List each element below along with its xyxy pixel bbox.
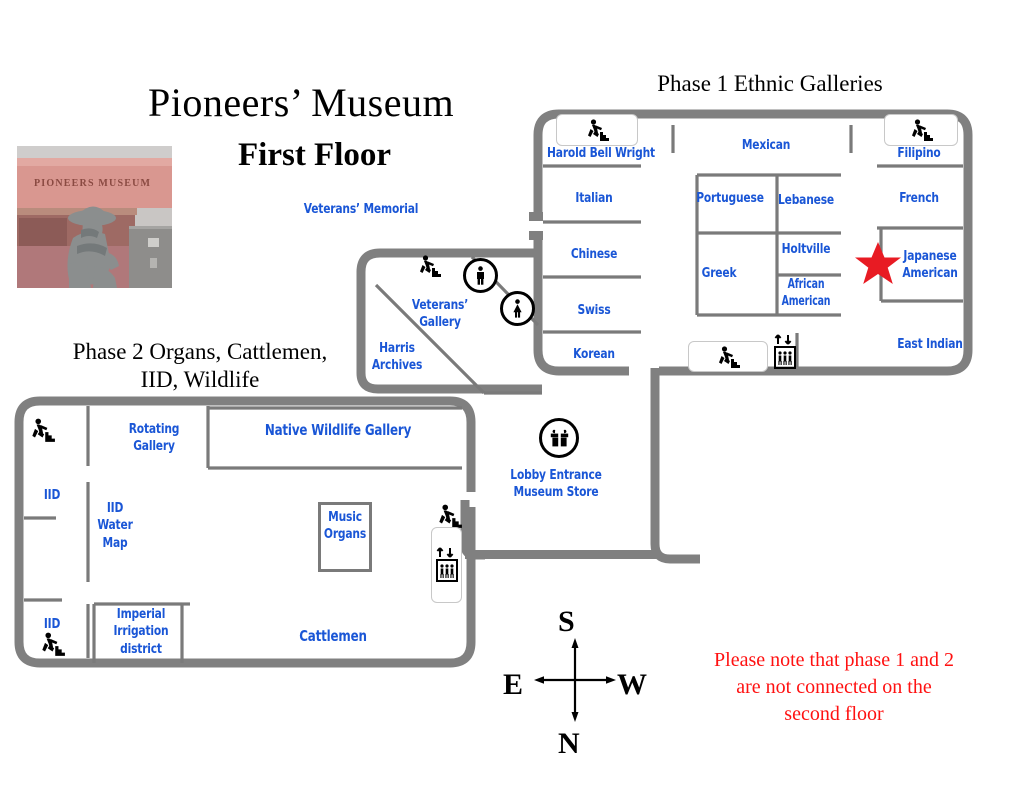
museum-photo-image: PIONEERS MUSEUM	[17, 146, 172, 288]
label-imperial-irrigation-line1: Imperial	[105, 606, 177, 623]
label-cattlemen: Cattlemen	[285, 627, 382, 646]
corridor-horizontal-wall	[465, 550, 660, 559]
connecting-corridor-wall	[640, 368, 700, 568]
phase2-heading: Phase 2 Organs, Cattlemen, IID, Wildlife	[55, 338, 345, 394]
stairs-icon	[435, 504, 463, 528]
label-iid-left-lower: IID	[32, 616, 72, 633]
label-harris-archives-line1: Harris	[364, 340, 429, 357]
label-lobby-entrance: Lobby Entrance	[500, 467, 613, 484]
label-music-organs: Music Organs	[318, 509, 372, 544]
room-korean: Korean	[546, 346, 641, 363]
note-line1: Please note that phase 1 and 2	[678, 647, 990, 674]
label-veterans-memorial: Veterans’ Memorial	[303, 201, 419, 218]
phase2-heading-line1: Phase 2 Organs, Cattlemen,	[55, 338, 345, 366]
label-veterans-gallery-line2: Gallery	[405, 314, 475, 331]
stairs-icon	[715, 346, 741, 368]
label-iid-water-map-line3: Map	[88, 535, 143, 552]
label-lobby-entrance-store: Lobby Entrance Museum Store	[492, 467, 620, 502]
you-are-here-star-icon	[853, 240, 903, 288]
restroom-men-icon	[474, 266, 487, 285]
compass-label-right: W	[617, 668, 647, 702]
label-iid-water-map-line2: Water	[88, 517, 143, 534]
room-greek: Greek	[683, 265, 755, 282]
phase-connection-note: Please note that phase 1 and 2 are not c…	[678, 647, 990, 728]
label-rotating-gallery-line1: Rotating	[118, 421, 190, 438]
svg-text:PIONEERS MUSEUM: PIONEERS MUSEUM	[34, 178, 151, 189]
label-rotating-gallery-line2: Gallery	[118, 438, 190, 455]
stairs-icon	[38, 632, 66, 656]
room-chinese: Chinese	[546, 246, 641, 263]
compass-label-top: S	[558, 605, 575, 639]
label-imperial-irrigation-district: Imperial Irrigation district	[100, 606, 182, 658]
elevator-box-phase2[interactable]	[431, 527, 462, 603]
elevator-icon	[434, 547, 460, 583]
room-lebanese: Lebanese	[766, 192, 847, 209]
stairs-icon-phase2-top-left[interactable]	[28, 418, 56, 442]
stairs-icon	[908, 119, 934, 141]
label-museum-store: Museum Store	[500, 484, 613, 501]
phase1-heading: Phase 1 Ethnic Galleries	[645, 70, 895, 98]
phase2-heading-line2: IID, Wildlife	[55, 366, 345, 394]
label-harris-archives: Harris Archives	[360, 340, 434, 375]
elevator-icon	[772, 334, 798, 370]
page-title: Pioneers’ Museum	[148, 79, 454, 126]
stairs-icon	[584, 119, 610, 141]
label-imperial-irrigation-line3: district	[105, 641, 177, 658]
museum-photo: PIONEERS MUSEUM	[17, 146, 172, 288]
stairs-icon-phase2-right[interactable]	[435, 504, 463, 528]
elevator-icon-phase1[interactable]	[772, 334, 798, 370]
stairs-icon-harold-bell-wright[interactable]	[556, 114, 638, 146]
room-east-indian: East Indian	[884, 336, 976, 353]
restroom-men-icon[interactable]	[463, 258, 498, 293]
label-iid-water-map-line1: IID	[88, 500, 143, 517]
stairs-icon	[28, 418, 56, 442]
room-filipino: Filipino	[874, 145, 964, 162]
stairs-icon-phase1-bottom[interactable]	[688, 341, 768, 372]
label-imperial-irrigation-line2: Irrigation	[105, 623, 177, 640]
room-swiss: Swiss	[546, 302, 641, 319]
label-native-wildlife-gallery: Native Wildlife Gallery	[254, 421, 421, 440]
floor-subtitle: First Floor	[238, 137, 391, 174]
label-harris-archives-line2: Archives	[364, 357, 429, 374]
room-african-american-line2: American	[772, 293, 840, 310]
room-holtville: Holtville	[767, 241, 844, 258]
label-veterans-gallery-line1: Veterans’	[405, 297, 475, 314]
room-french: French	[874, 190, 964, 207]
room-african-american: African American	[767, 276, 844, 311]
gift-icon	[550, 429, 569, 447]
stairs-icon-veterans-gallery[interactable]	[416, 255, 442, 277]
stairs-icon-filipino[interactable]	[884, 114, 958, 146]
compass-label-bottom: N	[558, 727, 580, 761]
room-harold-bell-wright: Harold Bell Wright	[535, 145, 667, 162]
stairs-icon	[416, 255, 442, 277]
room-italian: Italian	[546, 190, 641, 207]
room-portuguese: Portuguese	[686, 190, 774, 207]
gift-shop-icon[interactable]	[539, 418, 579, 458]
label-iid-left-upper: IID	[32, 487, 72, 504]
restroom-women-icon[interactable]	[500, 291, 535, 326]
label-rotating-gallery: Rotating Gallery	[113, 421, 195, 456]
room-african-american-line1: African	[772, 276, 840, 293]
note-line2: are not connected on the	[678, 674, 990, 701]
label-music-organs-line2: Organs	[321, 526, 369, 543]
room-mexican: Mexican	[717, 137, 816, 154]
compass-label-left: E	[503, 668, 523, 702]
label-veterans-gallery: Veterans’ Gallery	[400, 297, 480, 332]
note-line3: second floor	[678, 701, 990, 728]
restroom-women-icon	[511, 299, 524, 318]
label-music-organs-line1: Music	[321, 509, 369, 526]
stairs-icon-phase2-bottom-left[interactable]	[38, 632, 66, 656]
label-iid-water-map: IID Water Map	[84, 500, 146, 552]
